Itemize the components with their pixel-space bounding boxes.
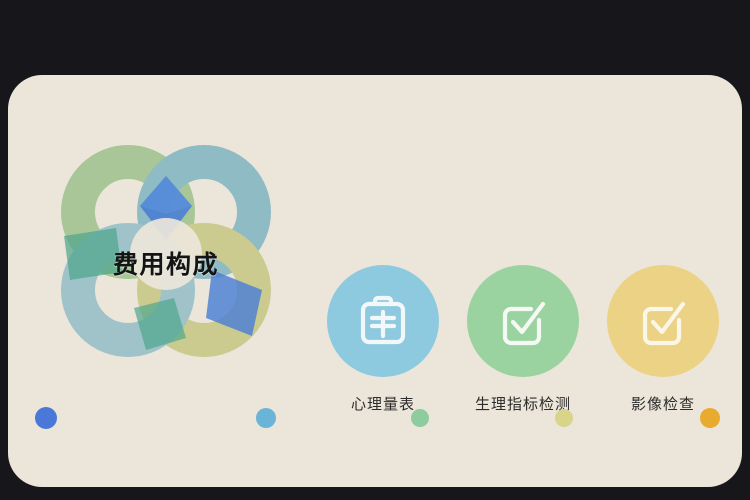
timeline-node <box>700 408 720 428</box>
cost-distribution-timeline[interactable] <box>8 395 742 441</box>
checkbox-check-icon <box>494 292 552 350</box>
checkbox-check-icon <box>634 292 692 350</box>
category-item-physio-test[interactable]: 生理指标检测 <box>448 265 598 414</box>
content-card: 费用构成 心理量表 <box>8 75 742 487</box>
category-icon-badge <box>327 265 439 377</box>
page-title: 费用构成 <box>57 245 275 281</box>
timeline-node <box>35 407 57 429</box>
category-icon-badge <box>467 265 579 377</box>
timeline-node <box>555 409 573 427</box>
category-item-imaging-exam[interactable]: 影像检查 <box>588 265 738 414</box>
clipboard-chart-icon <box>354 292 412 350</box>
category-icon-badge <box>607 265 719 377</box>
timeline-node <box>256 408 276 428</box>
screenshot-canvas: 费用构成 心理量表 <box>0 0 750 500</box>
timeline-node <box>411 409 429 427</box>
category-item-psych-scale[interactable]: 心理量表 <box>308 265 458 414</box>
